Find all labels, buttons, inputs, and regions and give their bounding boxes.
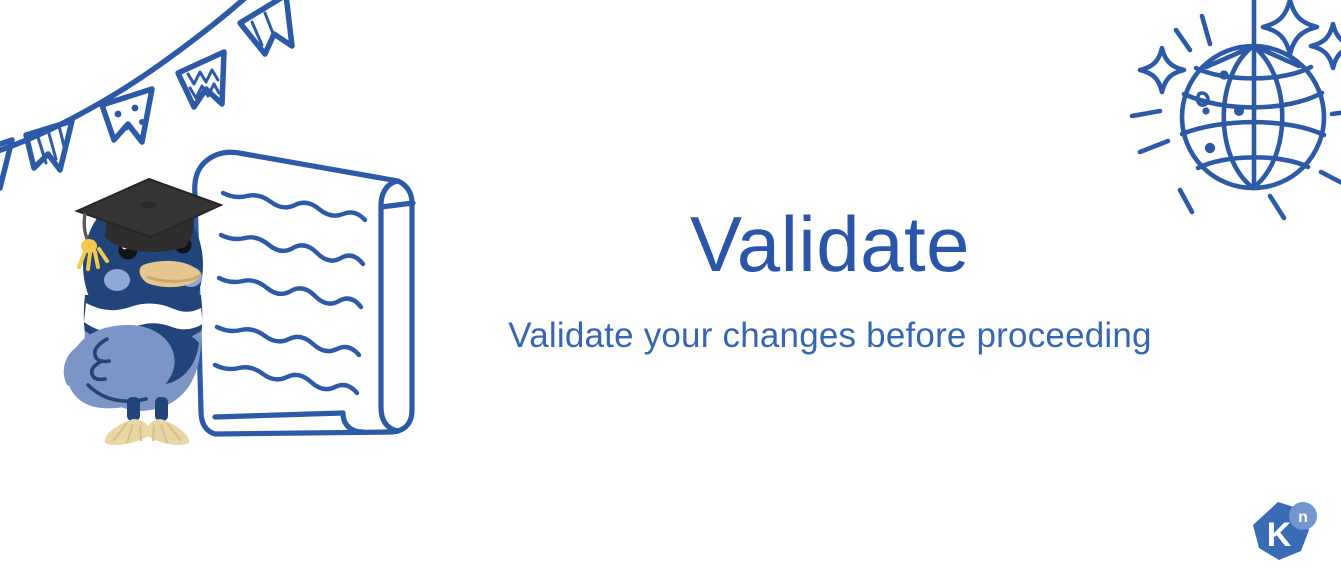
brand-logo: K n	[1248, 499, 1320, 569]
mascot-scroll-group	[55, 135, 465, 470]
logo-letter-n: n	[1298, 509, 1308, 526]
page-title: Validate	[460, 205, 1200, 283]
page-subtitle: Validate your changes before proceeding	[460, 283, 1200, 356]
scroll-diploma	[195, 152, 413, 434]
logo-letter-k: K	[1267, 516, 1292, 554]
text-block: Validate Validate your changes before pr…	[460, 205, 1200, 356]
slide-canvas: Validate Validate your changes before pr…	[0, 0, 1341, 585]
discoball-decoration	[1118, 0, 1341, 226]
